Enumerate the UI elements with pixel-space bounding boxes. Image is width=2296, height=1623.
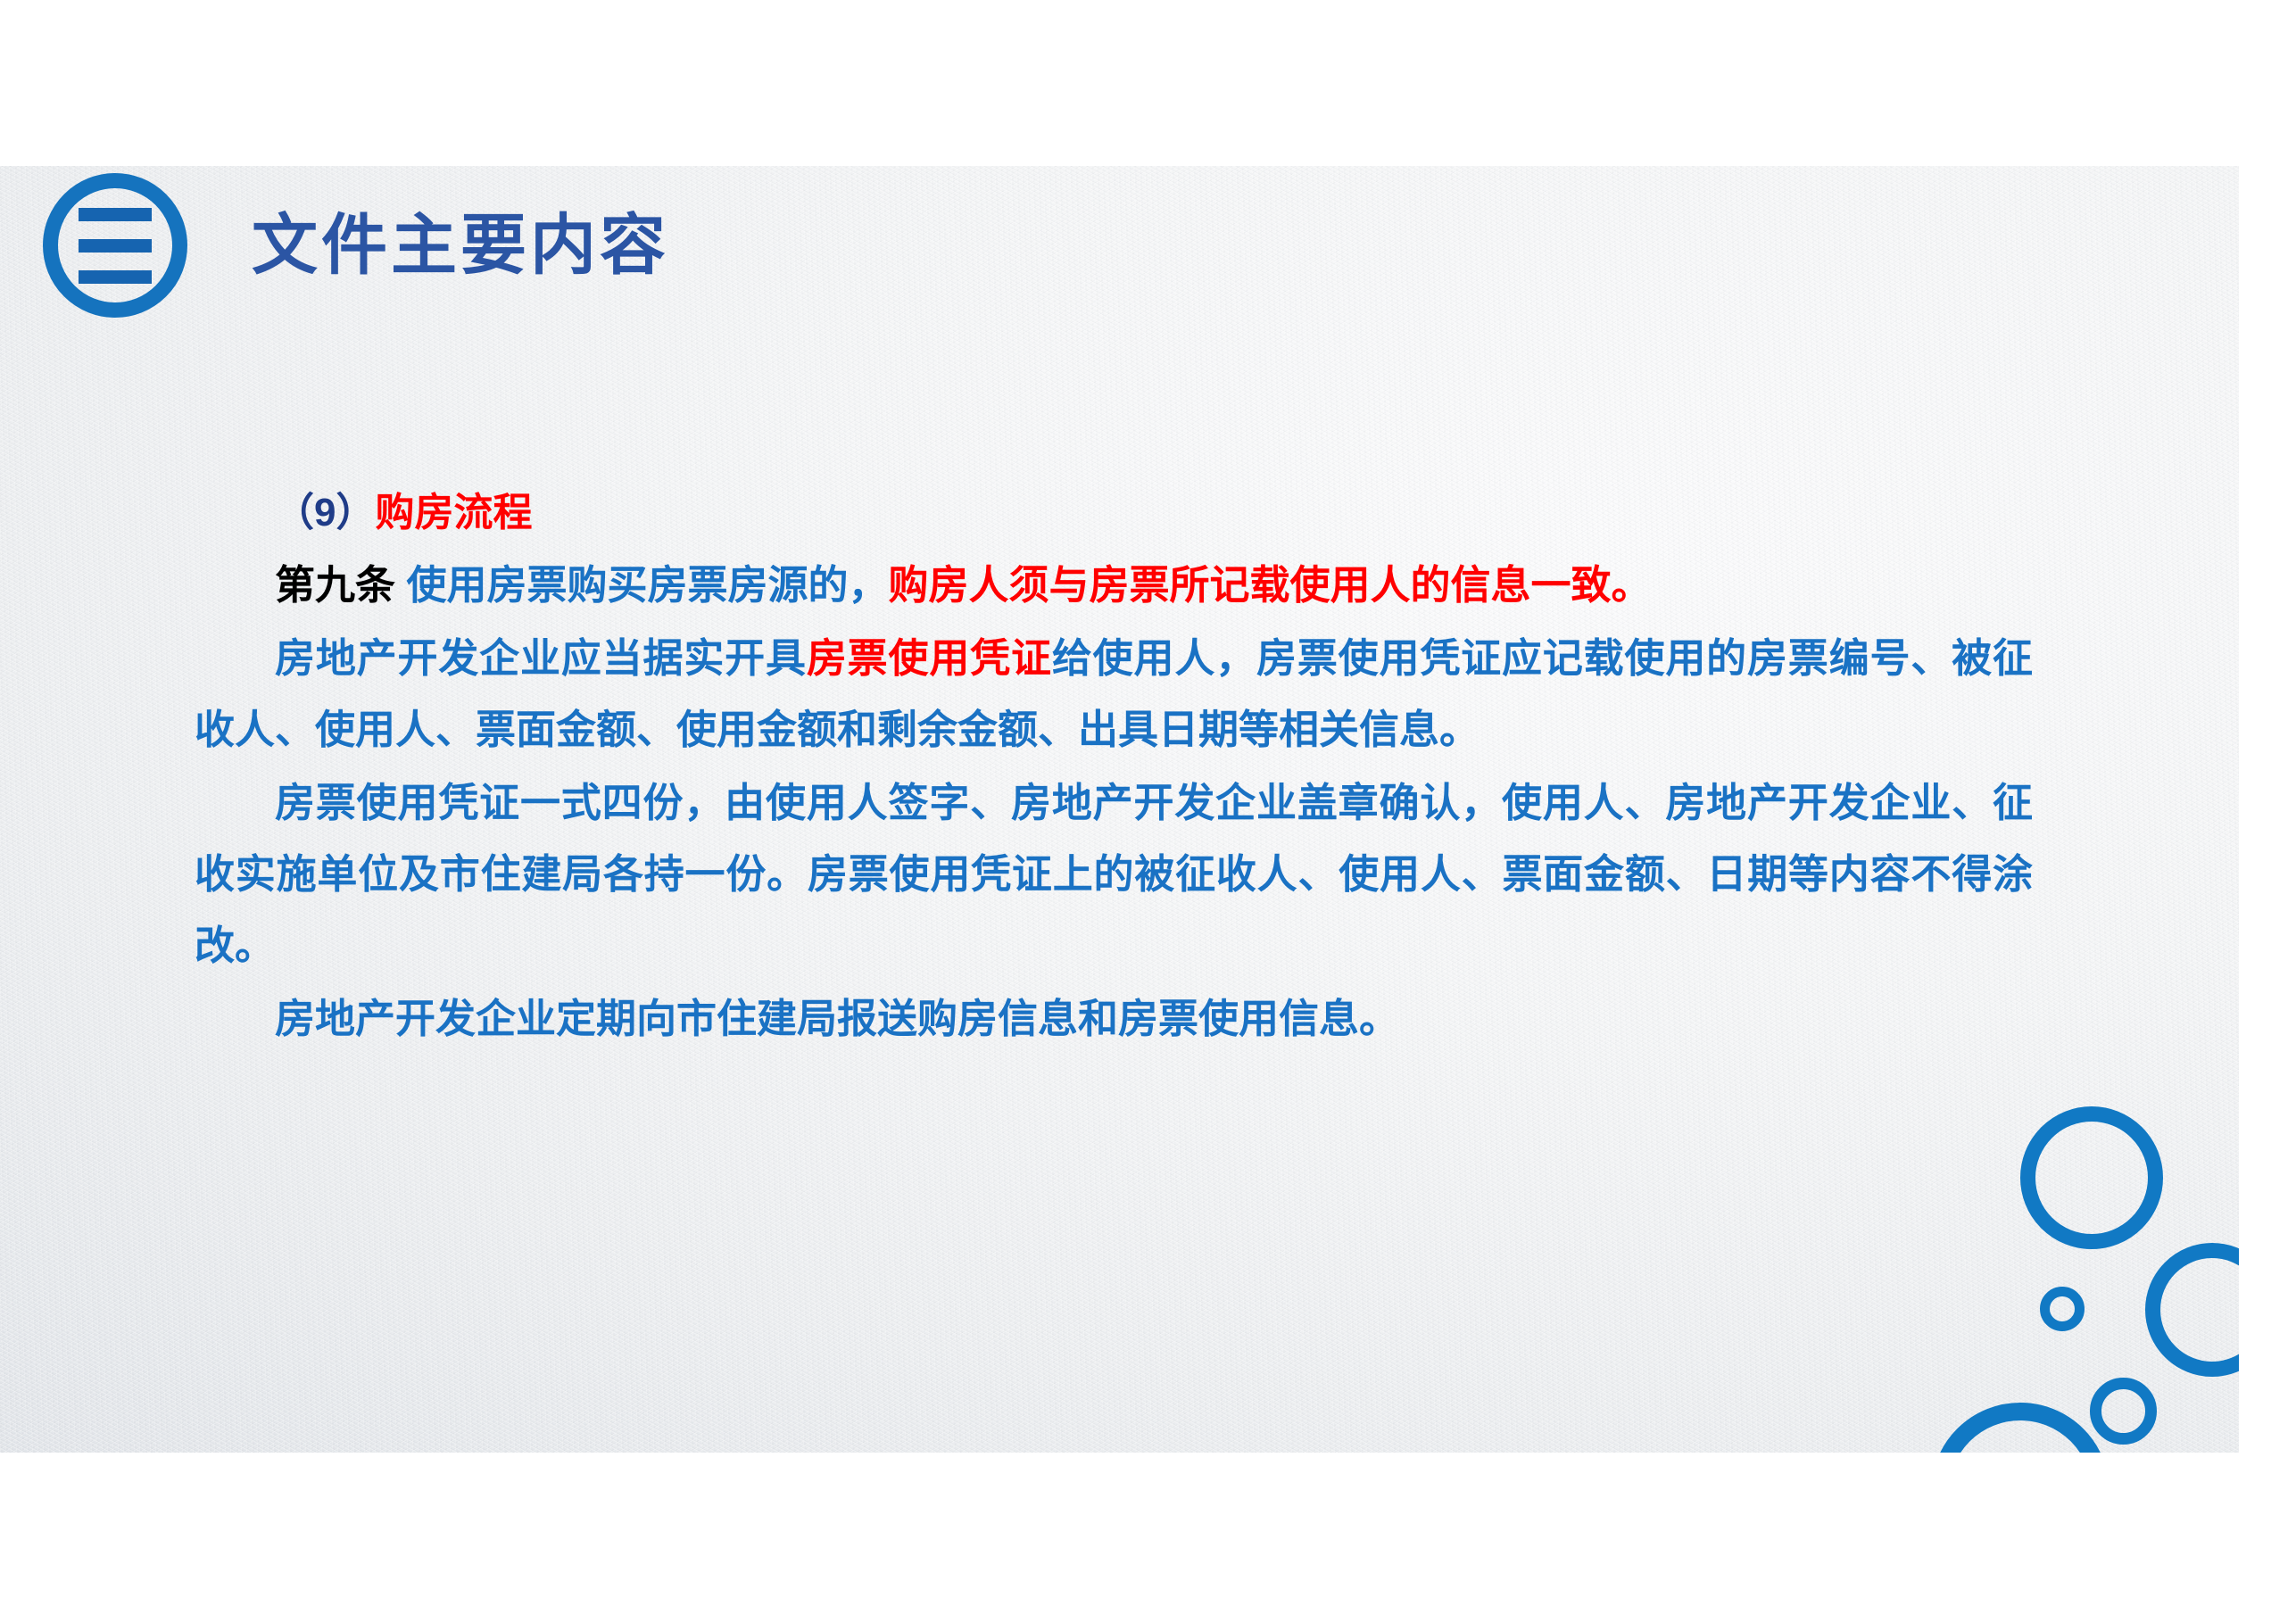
article-number: 第九条 <box>275 562 407 608</box>
paragraph-periodic-reporting: 房地产开发企业定期向市住建局报送购房信息和房票使用信息。 <box>195 983 2033 1055</box>
paragraph-voucher-issuance: 房地产开发企业应当据实开具房票使用凭证给使用人，房票使用凭证应记载使用的房票编号… <box>195 623 2033 766</box>
decorative-circle-icon <box>2090 1378 2157 1445</box>
paragraph-article-nine: 第九条 使用房票购买房票房源的，购房人须与房票所记载使用人的信息一致。 <box>195 550 2033 621</box>
menu-bar-top <box>79 208 152 221</box>
decorative-circle-icon <box>1931 1403 2110 1453</box>
article-nine-blue-part: 使用房票购买房票房源的， <box>407 562 889 608</box>
voucher-issuance-highlight: 房票使用凭证 <box>807 635 1052 681</box>
hamburger-menu-icon <box>43 173 187 318</box>
voucher-copies-text: 房票使用凭证一式四份，由使用人签字、房地产开发企业盖章确认，使用人、房地产开发企… <box>195 780 2033 968</box>
decorative-circle-icon <box>2020 1106 2163 1249</box>
section-number: （9） <box>275 491 375 534</box>
section-label: 购房流程 <box>375 491 532 534</box>
slide-canvas: 文件主要内容 （9）购房流程 第九条 使用房票购买房票房源的，购房人须与房票所记… <box>0 166 2239 1453</box>
periodic-reporting-text: 房地产开发企业定期向市住建局报送购房信息和房票使用信息。 <box>275 996 1399 1041</box>
decorative-circle-icon <box>2040 1287 2085 1331</box>
article-nine-red-part: 购房人须与房票所记载使用人的信息一致。 <box>889 562 1652 608</box>
slide-header: 文件主要内容 <box>43 173 669 318</box>
decorative-circle-icon <box>2145 1243 2239 1377</box>
section-heading: （9）购房流程 <box>195 478 2033 548</box>
paragraph-voucher-copies: 房票使用凭证一式四份，由使用人签字、房地产开发企业盖章确认，使用人、房地产开发企… <box>195 767 2033 981</box>
menu-bar-middle <box>79 239 152 253</box>
menu-bar-bottom <box>79 270 152 284</box>
page-title: 文件主要内容 <box>252 212 669 278</box>
voucher-issuance-part-1: 房地产开发企业应当据实开具 <box>275 635 807 681</box>
slide-body: （9）购房流程 第九条 使用房票购买房票房源的，购房人须与房票所记载使用人的信息… <box>195 478 2033 1056</box>
